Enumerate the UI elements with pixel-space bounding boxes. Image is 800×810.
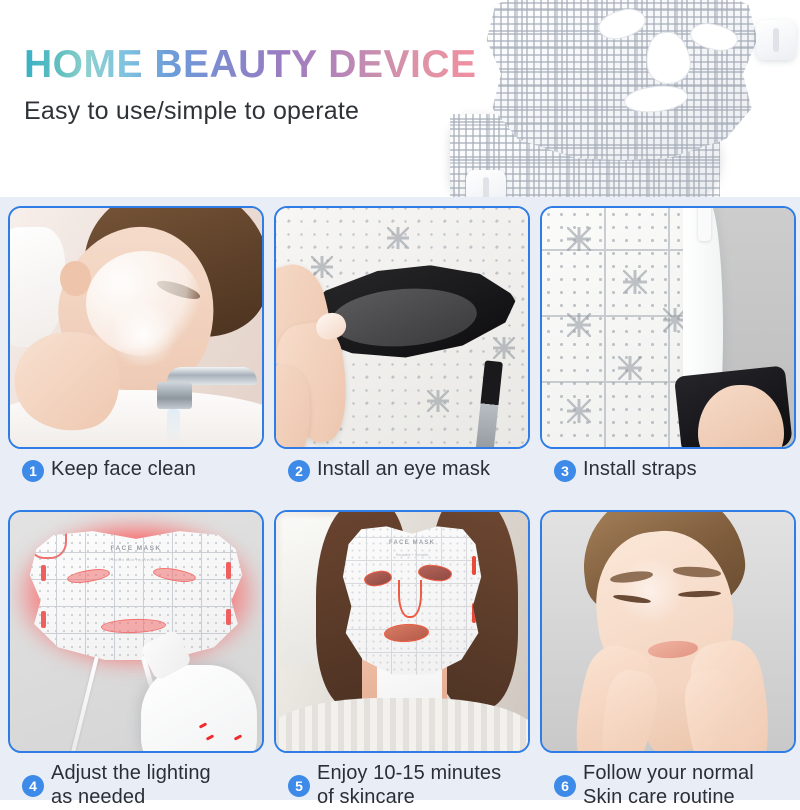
step-4-photo: FACE MASK Photon skin rejuvenation — [8, 510, 264, 753]
step-card-3[interactable]: 3 Install straps — [540, 206, 796, 501]
steps-row-top: 1 Keep face clean — [8, 206, 792, 501]
head-strap-right — [756, 20, 796, 60]
neck-strap-left — [466, 170, 506, 197]
caption-line-2: of skincare — [317, 786, 415, 808]
page-title: HOME BEAUTY DEVICE — [24, 44, 477, 86]
strap-slot-icon — [483, 177, 489, 197]
step-card-2[interactable]: 2 Install an eye mask — [274, 206, 530, 501]
skin-highlight — [618, 555, 684, 627]
step-caption-text: Install straps — [583, 457, 697, 481]
snowflake-icon — [567, 227, 591, 251]
snowflake-icon — [618, 356, 642, 380]
cleanser-foam — [106, 304, 182, 366]
step-number-badge: 2 — [288, 460, 310, 482]
knit-sweater — [274, 698, 530, 753]
strap-slot-icon — [773, 28, 779, 52]
step-3-photo — [540, 206, 796, 449]
step-caption-text: Install an eye mask — [317, 457, 490, 481]
strap-tab — [698, 206, 711, 241]
steps-section: 1 Keep face clean — [0, 197, 800, 800]
step-2-caption: 2 Install an eye mask — [274, 449, 530, 501]
caption-line-2: Skin care routine — [583, 786, 735, 808]
caption-line-1: Enjoy 10-15 minutes — [317, 762, 501, 784]
hero-text-block: HOME BEAUTY DEVICE Easy to use/simple to… — [24, 44, 477, 126]
caption-line-1: Adjust the lighting — [51, 762, 211, 784]
mask-brand-sublabel: Reusable + Portable — [396, 552, 429, 558]
step-1-caption: 1 Keep face clean — [8, 449, 264, 501]
led-face-mask: FACE MASK Photon skin rejuvenation — [28, 531, 245, 660]
mask-brand-label: FACE MASK — [389, 540, 435, 546]
step-number-badge: 1 — [22, 460, 44, 482]
led-face-mask-worn: FACE MASK Reusable + Portable — [342, 526, 483, 674]
strap-tab — [226, 562, 231, 579]
snowflake-icon — [623, 270, 647, 294]
nose-opening — [398, 580, 422, 619]
step-caption-text: Adjust the lighting as needed — [51, 761, 211, 810]
caption-line-1: Follow your normal — [583, 762, 754, 784]
step-number-badge: 3 — [554, 460, 576, 482]
step-card-1[interactable]: 1 Keep face clean — [8, 206, 264, 501]
step-1-photo — [8, 206, 264, 449]
step-6-caption: 6 Follow your normal Skin care routine — [540, 753, 796, 810]
mask-brand-label: FACE MASK — [111, 545, 162, 552]
running-water — [167, 409, 181, 446]
mask-brand-sublabel: Photon skin rejuvenation — [109, 557, 162, 564]
strap-tab — [41, 611, 46, 628]
step-card-6[interactable]: 6 Follow your normal Skin care routine — [540, 510, 796, 810]
hero-header: HOME BEAUTY DEVICE Easy to use/simple to… — [0, 0, 800, 197]
step-number-badge: 5 — [288, 775, 310, 797]
caption-line-2: as needed — [51, 786, 145, 808]
step-number-badge: 6 — [554, 775, 576, 797]
snowflake-icon — [493, 337, 515, 359]
step-4-caption: 4 Adjust the lighting as needed — [8, 753, 264, 810]
snowflake-icon — [387, 227, 409, 249]
snowflake-icon — [311, 256, 333, 278]
hero-product-photo — [440, 0, 800, 197]
strap-tab — [41, 565, 46, 582]
step-card-4[interactable]: FACE MASK Photon skin rejuvenation — [8, 510, 264, 810]
strap-tab — [226, 609, 231, 626]
snowflake-icon — [427, 390, 449, 412]
page-subtitle: Easy to use/simple to operate — [24, 97, 477, 126]
step-caption-text: Keep face clean — [51, 457, 196, 481]
step-card-5[interactable]: FACE MASK Reusable + Portable 5 Enjoy — [274, 510, 530, 810]
step-caption-text: Follow your normal Skin care routine — [583, 761, 754, 810]
step-5-caption: 5 Enjoy 10-15 minutes of skincare — [274, 753, 530, 810]
strap-tab — [472, 556, 475, 575]
mask-face-piece — [478, 0, 766, 160]
snowflake-icon — [567, 399, 591, 423]
power-cord — [67, 657, 99, 753]
steps-row-bottom: FACE MASK Photon skin rejuvenation — [8, 510, 792, 810]
step-caption-text: Enjoy 10-15 minutes of skincare — [317, 761, 501, 810]
step-number-badge: 4 — [22, 775, 44, 797]
step-2-photo — [274, 206, 530, 449]
ear — [60, 261, 90, 297]
snowflake-icon — [567, 313, 591, 337]
step-5-photo: FACE MASK Reusable + Portable — [274, 510, 530, 753]
step-6-photo — [540, 510, 796, 753]
step-3-caption: 3 Install straps — [540, 449, 796, 501]
faucet — [141, 361, 257, 414]
